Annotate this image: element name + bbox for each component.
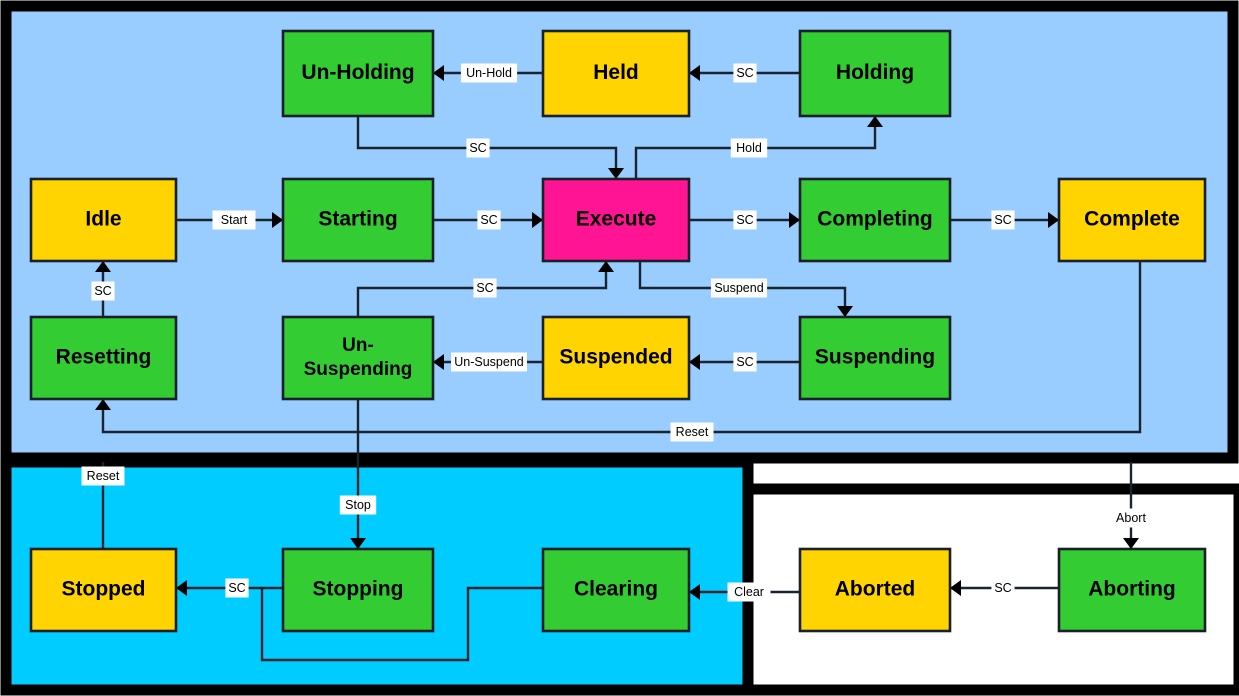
- state-box-completing[interactable]: [800, 179, 950, 261]
- state-starting[interactable]: Starting: [283, 179, 433, 261]
- state-box-holding[interactable]: [800, 31, 950, 116]
- transition-label-t-suspending-suspended: SC: [733, 353, 756, 372]
- state-holding[interactable]: Holding: [800, 31, 950, 116]
- state-box-held[interactable]: [543, 31, 689, 116]
- label-chip-t-execute-holding: [731, 139, 767, 158]
- label-chip-t-stopping-stopped: [225, 579, 248, 598]
- label-chip-t-aborted-clearing: [728, 583, 771, 602]
- state-box-aborting[interactable]: [1059, 549, 1205, 631]
- label-chip-t-holding-held: [733, 64, 756, 83]
- transition-label-t-execute-completing: SC: [733, 211, 756, 230]
- label-chip-t-stopped-resetting: [82, 467, 125, 486]
- state-idle[interactable]: Idle: [31, 179, 176, 261]
- state-box-suspended[interactable]: [543, 317, 689, 399]
- state-un-holding[interactable]: Un-Holding: [283, 31, 433, 116]
- state-box-execute[interactable]: [543, 179, 689, 261]
- state-box-idle[interactable]: [31, 179, 176, 261]
- state-box-starting[interactable]: [283, 179, 433, 261]
- label-chip-t-resetting-idle: [91, 282, 114, 301]
- state-box-stopping[interactable]: [283, 549, 433, 631]
- label-chip-t-idle-starting: [213, 211, 256, 230]
- state-clearing[interactable]: Clearing: [543, 549, 689, 631]
- state-suspending[interactable]: Suspending: [800, 317, 950, 399]
- transition-label-t-unholding-execute: SC: [466, 139, 489, 158]
- label-chip-t-starting-execute: [477, 211, 500, 230]
- state-held[interactable]: Held: [543, 31, 689, 116]
- state-box-un-suspending[interactable]: [283, 317, 433, 399]
- label-chip-t-unholding-execute: [466, 139, 489, 158]
- label-chip-t-aborting-aborted: [991, 579, 1014, 598]
- transition-label-t-execute-holding: Hold: [731, 139, 767, 158]
- state-execute[interactable]: Execute: [543, 179, 689, 261]
- state-complete[interactable]: Complete: [1059, 179, 1205, 261]
- state-box-complete[interactable]: [1059, 179, 1205, 261]
- label-chip-t-complete-resetting: [671, 423, 714, 442]
- state-stopping[interactable]: Stopping: [283, 549, 433, 631]
- state-completing[interactable]: Completing: [800, 179, 950, 261]
- diagram-svg: Un-HoldingHeldHoldingIdleStartingExecute…: [0, 0, 1239, 696]
- transition-label-t-complete-resetting: Reset: [671, 423, 714, 442]
- state-box-un-holding[interactable]: [283, 31, 433, 116]
- state-un-suspending[interactable]: Un-Suspending: [283, 317, 433, 399]
- label-chip-t-execute-suspending: [711, 279, 767, 298]
- label-chip-t-completing-complete: [991, 211, 1014, 230]
- state-box-clearing[interactable]: [543, 549, 689, 631]
- state-suspended[interactable]: Suspended: [543, 317, 689, 399]
- transition-label-t-execute-stopping: Stop: [340, 496, 376, 515]
- label-chip-t-unsuspending-execute: [473, 279, 496, 298]
- label-chip-t-execute-stopping: [340, 496, 376, 515]
- transition-label-t-holding-held: SC: [733, 64, 756, 83]
- transition-label-t-idle-starting: Start: [213, 211, 256, 230]
- transition-label-t-stopped-resetting: Reset: [82, 467, 125, 486]
- label-chip-t-suspended-unsuspending: [451, 353, 527, 372]
- transition-label-t-starting-execute: SC: [477, 211, 500, 230]
- transition-label-t-aborting-aborted: SC: [991, 579, 1014, 598]
- state-box-aborted[interactable]: [800, 549, 950, 631]
- state-resetting[interactable]: Resetting: [31, 317, 176, 399]
- state-aborting[interactable]: Aborting: [1059, 549, 1205, 631]
- transition-label-t-resetting-idle: SC: [91, 282, 114, 301]
- transition-label-t-completing-complete: SC: [991, 211, 1014, 230]
- label-chip-t-suspending-suspended: [733, 353, 756, 372]
- label-chip-t-any-aborting: [1110, 509, 1153, 528]
- label-chip-t-held-unholding: [461, 64, 517, 83]
- transition-label-t-any-aborting: Abort: [1110, 509, 1153, 528]
- state-stopped[interactable]: Stopped: [31, 549, 176, 631]
- transition-label-t-unsuspending-execute: SC: [473, 279, 496, 298]
- label-chip-t-execute-completing: [733, 211, 756, 230]
- transition-label-t-aborted-clearing: Clear: [728, 583, 771, 602]
- transition-label-t-suspended-unsuspending: Un-Suspend: [451, 353, 527, 372]
- state-machine-diagram: Un-HoldingHeldHoldingIdleStartingExecute…: [0, 0, 1239, 696]
- state-box-suspending[interactable]: [800, 317, 950, 399]
- state-box-stopped[interactable]: [31, 549, 176, 631]
- state-aborted[interactable]: Aborted: [800, 549, 950, 631]
- transition-label-t-execute-suspending: Suspend: [711, 279, 767, 298]
- transition-label-t-held-unholding: Un-Hold: [461, 64, 517, 83]
- state-box-resetting[interactable]: [31, 317, 176, 399]
- transition-label-t-stopping-stopped: SC: [225, 579, 248, 598]
